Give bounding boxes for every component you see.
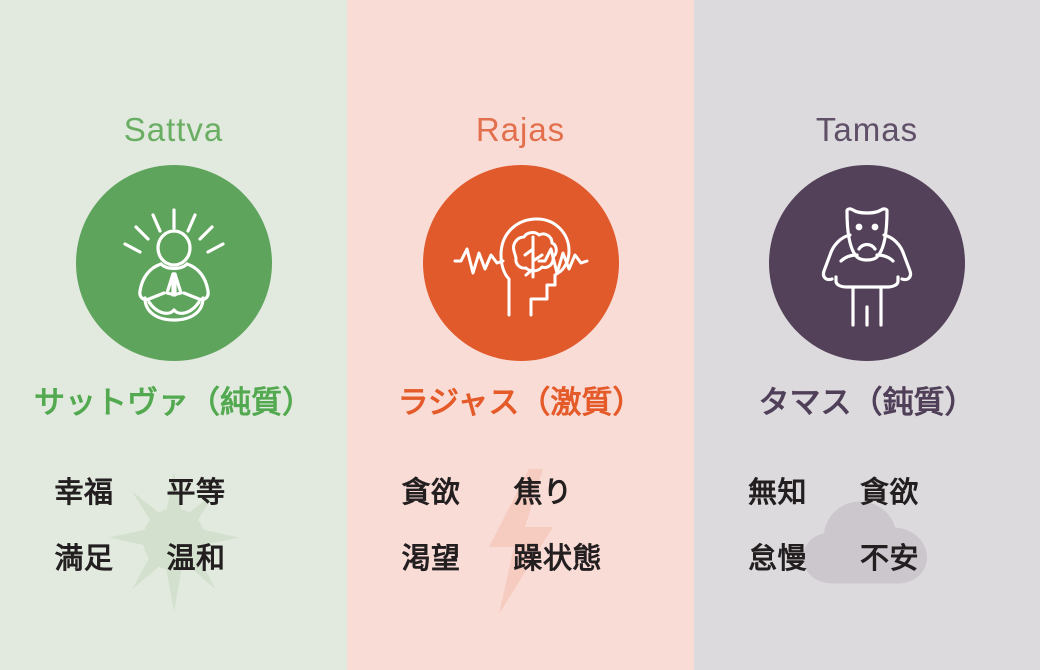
keyword-row: 幸福 平等 bbox=[39, 469, 309, 535]
keyword-row: 貪欲 焦り bbox=[386, 469, 656, 535]
keywords-tamas: 無知 貪欲 怠慢 不安 bbox=[732, 469, 1002, 619]
panel-jp-title-rajas: ラジャス（激質） bbox=[398, 387, 644, 423]
keyword: 温和 bbox=[167, 535, 299, 577]
keyword: 躁状態 bbox=[514, 535, 646, 577]
keyword-row: 満足 温和 bbox=[39, 535, 309, 601]
icon-circle-tamas bbox=[769, 165, 965, 361]
panel-latin-title-sattva: Sattva bbox=[124, 113, 224, 149]
panel-jp-title-sattva: サットヴァ（純質） bbox=[34, 387, 313, 423]
keyword: 貪欲 bbox=[860, 469, 992, 511]
keyword: 渇望 bbox=[396, 535, 514, 577]
keywords-sattva: 幸福 平等 満足 温和 bbox=[39, 469, 309, 619]
gunas-infographic: Sattva bbox=[0, 0, 1040, 670]
keyword-row: 渇望 躁状態 bbox=[386, 535, 656, 601]
panel-rajas: Rajas ラジャス（激質） bbox=[347, 0, 694, 670]
keyword: 平等 bbox=[167, 469, 299, 511]
panel-latin-title-rajas: Rajas bbox=[476, 113, 565, 149]
keyword: 不安 bbox=[860, 535, 992, 577]
icon-circle-sattva bbox=[76, 165, 272, 361]
agitated-head-brain-icon bbox=[451, 203, 591, 323]
panel-sattva: Sattva bbox=[0, 0, 347, 670]
keyword: 幸福 bbox=[49, 469, 167, 511]
keyword-row: 無知 貪欲 bbox=[732, 469, 1002, 535]
keyword-row: 怠慢 不安 bbox=[732, 535, 1002, 601]
keywords-rajas: 貪欲 焦り 渇望 躁状態 bbox=[386, 469, 656, 619]
panel-jp-title-tamas: タマス（鈍質） bbox=[759, 387, 976, 423]
meditating-person-icon bbox=[109, 198, 239, 328]
keyword: 焦り bbox=[514, 469, 646, 511]
keyword: 怠慢 bbox=[742, 535, 860, 577]
person-holding-sad-mask-icon bbox=[803, 197, 931, 329]
panel-latin-title-tamas: Tamas bbox=[816, 113, 918, 149]
icon-circle-rajas bbox=[423, 165, 619, 361]
keyword: 貪欲 bbox=[396, 469, 514, 511]
panel-tamas: Tamas bbox=[694, 0, 1040, 670]
keyword: 無知 bbox=[742, 469, 860, 511]
keyword: 満足 bbox=[49, 535, 167, 577]
